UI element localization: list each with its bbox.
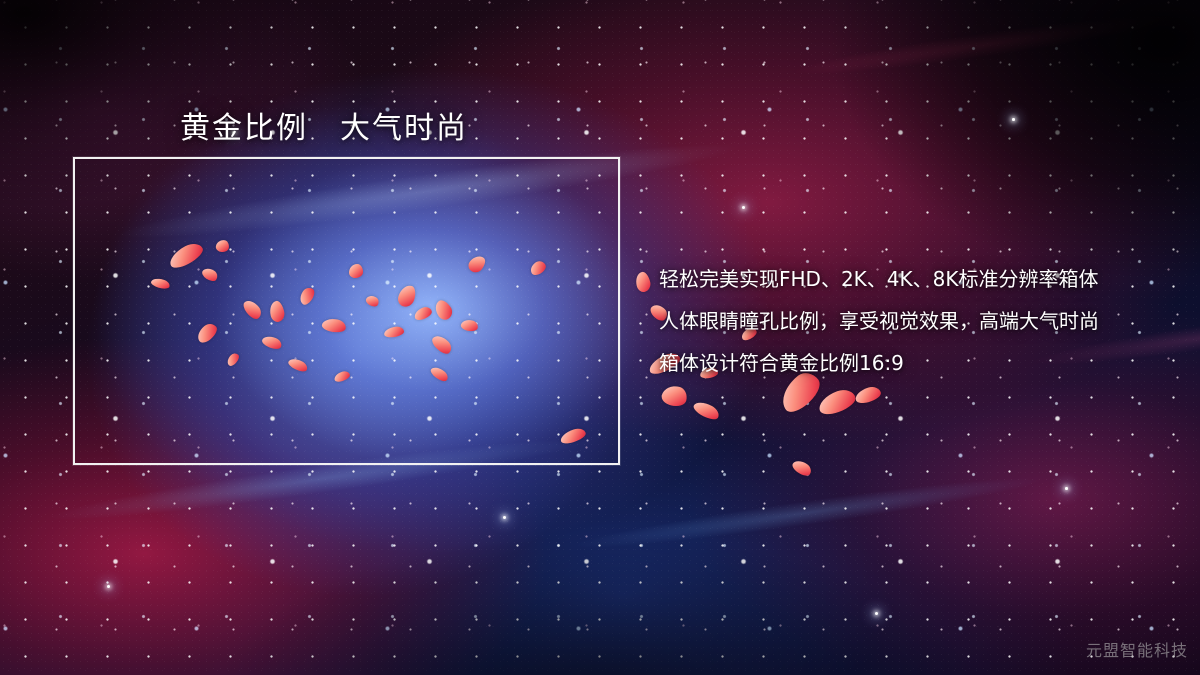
framed-vignette-overlay	[73, 157, 620, 465]
petal-icon	[215, 239, 230, 253]
watermark: 元盟智能科技	[1086, 637, 1188, 661]
petal-icon	[432, 298, 456, 323]
petal-icon	[225, 351, 241, 367]
slide-canvas: 黄金比例 大气时尚 轻松完美实现FHD、2K、4K、8K标准分辨率箱体 人体眼睛…	[0, 0, 1200, 675]
bright-star-icon	[1065, 487, 1068, 490]
bright-star-icon	[1012, 118, 1015, 121]
page-title: 黄金比例 大气时尚	[180, 103, 468, 147]
bright-star-icon	[503, 516, 506, 519]
petal-icon	[413, 305, 434, 322]
framed-photo	[73, 157, 620, 465]
body-line-1: 轻松完美实现FHD、2K、4K、8K标准分辨率箱体	[659, 258, 1159, 300]
petal-icon	[692, 398, 722, 422]
petal-icon	[816, 386, 859, 418]
petal-icon	[194, 321, 220, 346]
bright-star-icon	[107, 585, 110, 588]
petal-icon	[790, 457, 813, 478]
petal-icon	[349, 264, 363, 278]
petal-icon	[261, 334, 284, 352]
petal-icon	[321, 317, 347, 334]
petal-icon	[429, 364, 450, 383]
petal-icon	[241, 297, 264, 322]
petal-icon	[460, 318, 479, 332]
petal-icon	[634, 271, 652, 294]
body-line-2: 人体眼睛瞳孔比例，享受视觉效果，高端大气时尚	[659, 300, 1159, 342]
petal-icon	[430, 332, 455, 357]
petal-icon	[268, 300, 286, 323]
product-photo-frame[interactable]	[73, 157, 620, 465]
bright-star-icon	[875, 612, 878, 615]
petal-icon	[559, 426, 587, 445]
framed-nebula-filaments	[73, 157, 620, 465]
petal-icon	[396, 283, 418, 309]
petal-icon	[528, 259, 548, 277]
framed-starfield-medium-icon	[73, 157, 620, 465]
petal-icon	[364, 293, 380, 308]
framed-starfield-large-icon	[73, 157, 620, 465]
framed-starfield-small-icon	[73, 157, 620, 465]
petal-icon	[150, 277, 171, 291]
petal-icon	[333, 370, 351, 384]
petal-icon	[854, 385, 883, 406]
petal-icon	[466, 253, 488, 276]
body-line-3: 箱体设计符合黄金比例16:9	[659, 342, 1159, 384]
body-text-block: 轻松完美实现FHD、2K、4K、8K标准分辨率箱体 人体眼睛瞳孔比例，享受视觉效…	[659, 258, 1159, 384]
framed-grain-texture	[73, 157, 620, 465]
petal-icon	[287, 356, 309, 374]
petal-icon	[660, 383, 689, 408]
framed-nebula-background	[73, 157, 620, 465]
petal-icon	[166, 240, 206, 272]
petal-icon	[383, 326, 404, 339]
petal-icon	[200, 265, 219, 283]
petal-icon	[297, 285, 317, 307]
bright-star-icon	[742, 206, 745, 209]
